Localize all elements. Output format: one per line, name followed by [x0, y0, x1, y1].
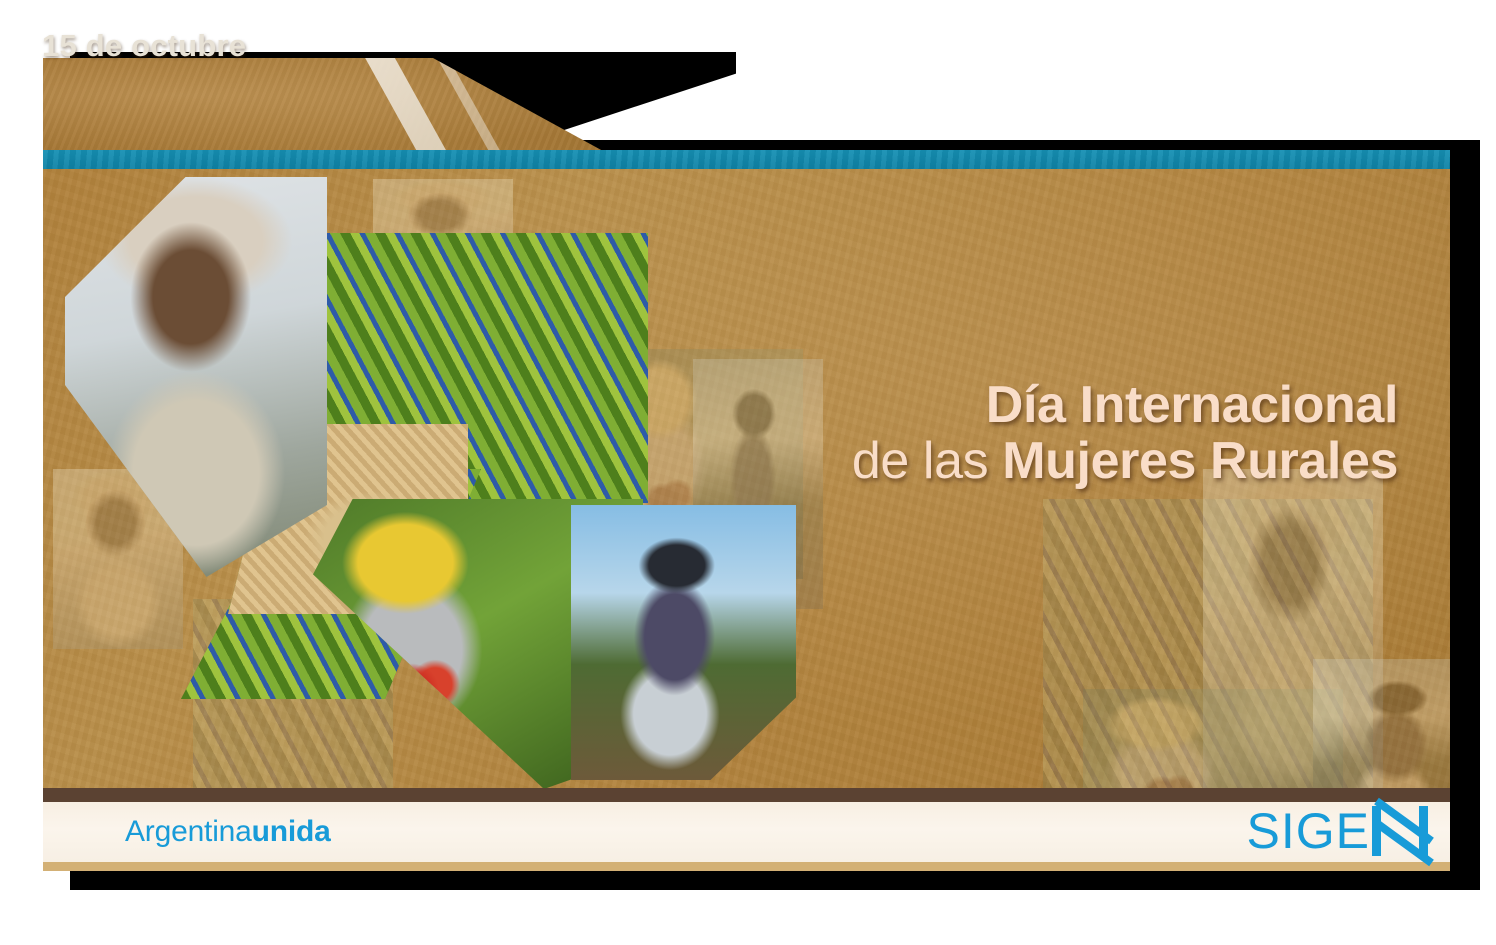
title-line-2-bold: Mujeres Rurales [1002, 432, 1398, 490]
blue-accent-bar [43, 150, 1450, 169]
sigen-n-left-bar [1372, 806, 1381, 856]
photo-portrait-woman-greenhouse [65, 177, 327, 577]
poster-title: Día Internacional de las Mujeres Rurales [852, 379, 1398, 488]
photo-woman-with-hoe [571, 505, 796, 780]
brand-bold-text: unida [252, 815, 331, 848]
argentina-unida-logo: Argentinaunida [125, 815, 331, 849]
footer-bottom-strip [43, 862, 1450, 871]
title-line-2-light: de las [852, 432, 1002, 490]
title-line-1: Día Internacional [852, 379, 1398, 433]
sigen-logo-n-mark [1372, 806, 1428, 856]
sigen-logo-text: SIGE [1247, 806, 1370, 856]
event-date-label: 15 de octubre [42, 28, 246, 64]
brand-regular-text: Argentina [125, 815, 252, 848]
sigen-n-right-bar [1419, 806, 1428, 856]
poster-canvas: 15 de octubre Día Internacional de las [0, 0, 1496, 945]
poster-body: Día Internacional de las Mujeres Rurales [43, 169, 1450, 788]
title-line-2: de las Mujeres Rurales [852, 435, 1398, 489]
footer-divider-bar [43, 788, 1450, 802]
sigen-logo: SIGE [1247, 806, 1428, 856]
